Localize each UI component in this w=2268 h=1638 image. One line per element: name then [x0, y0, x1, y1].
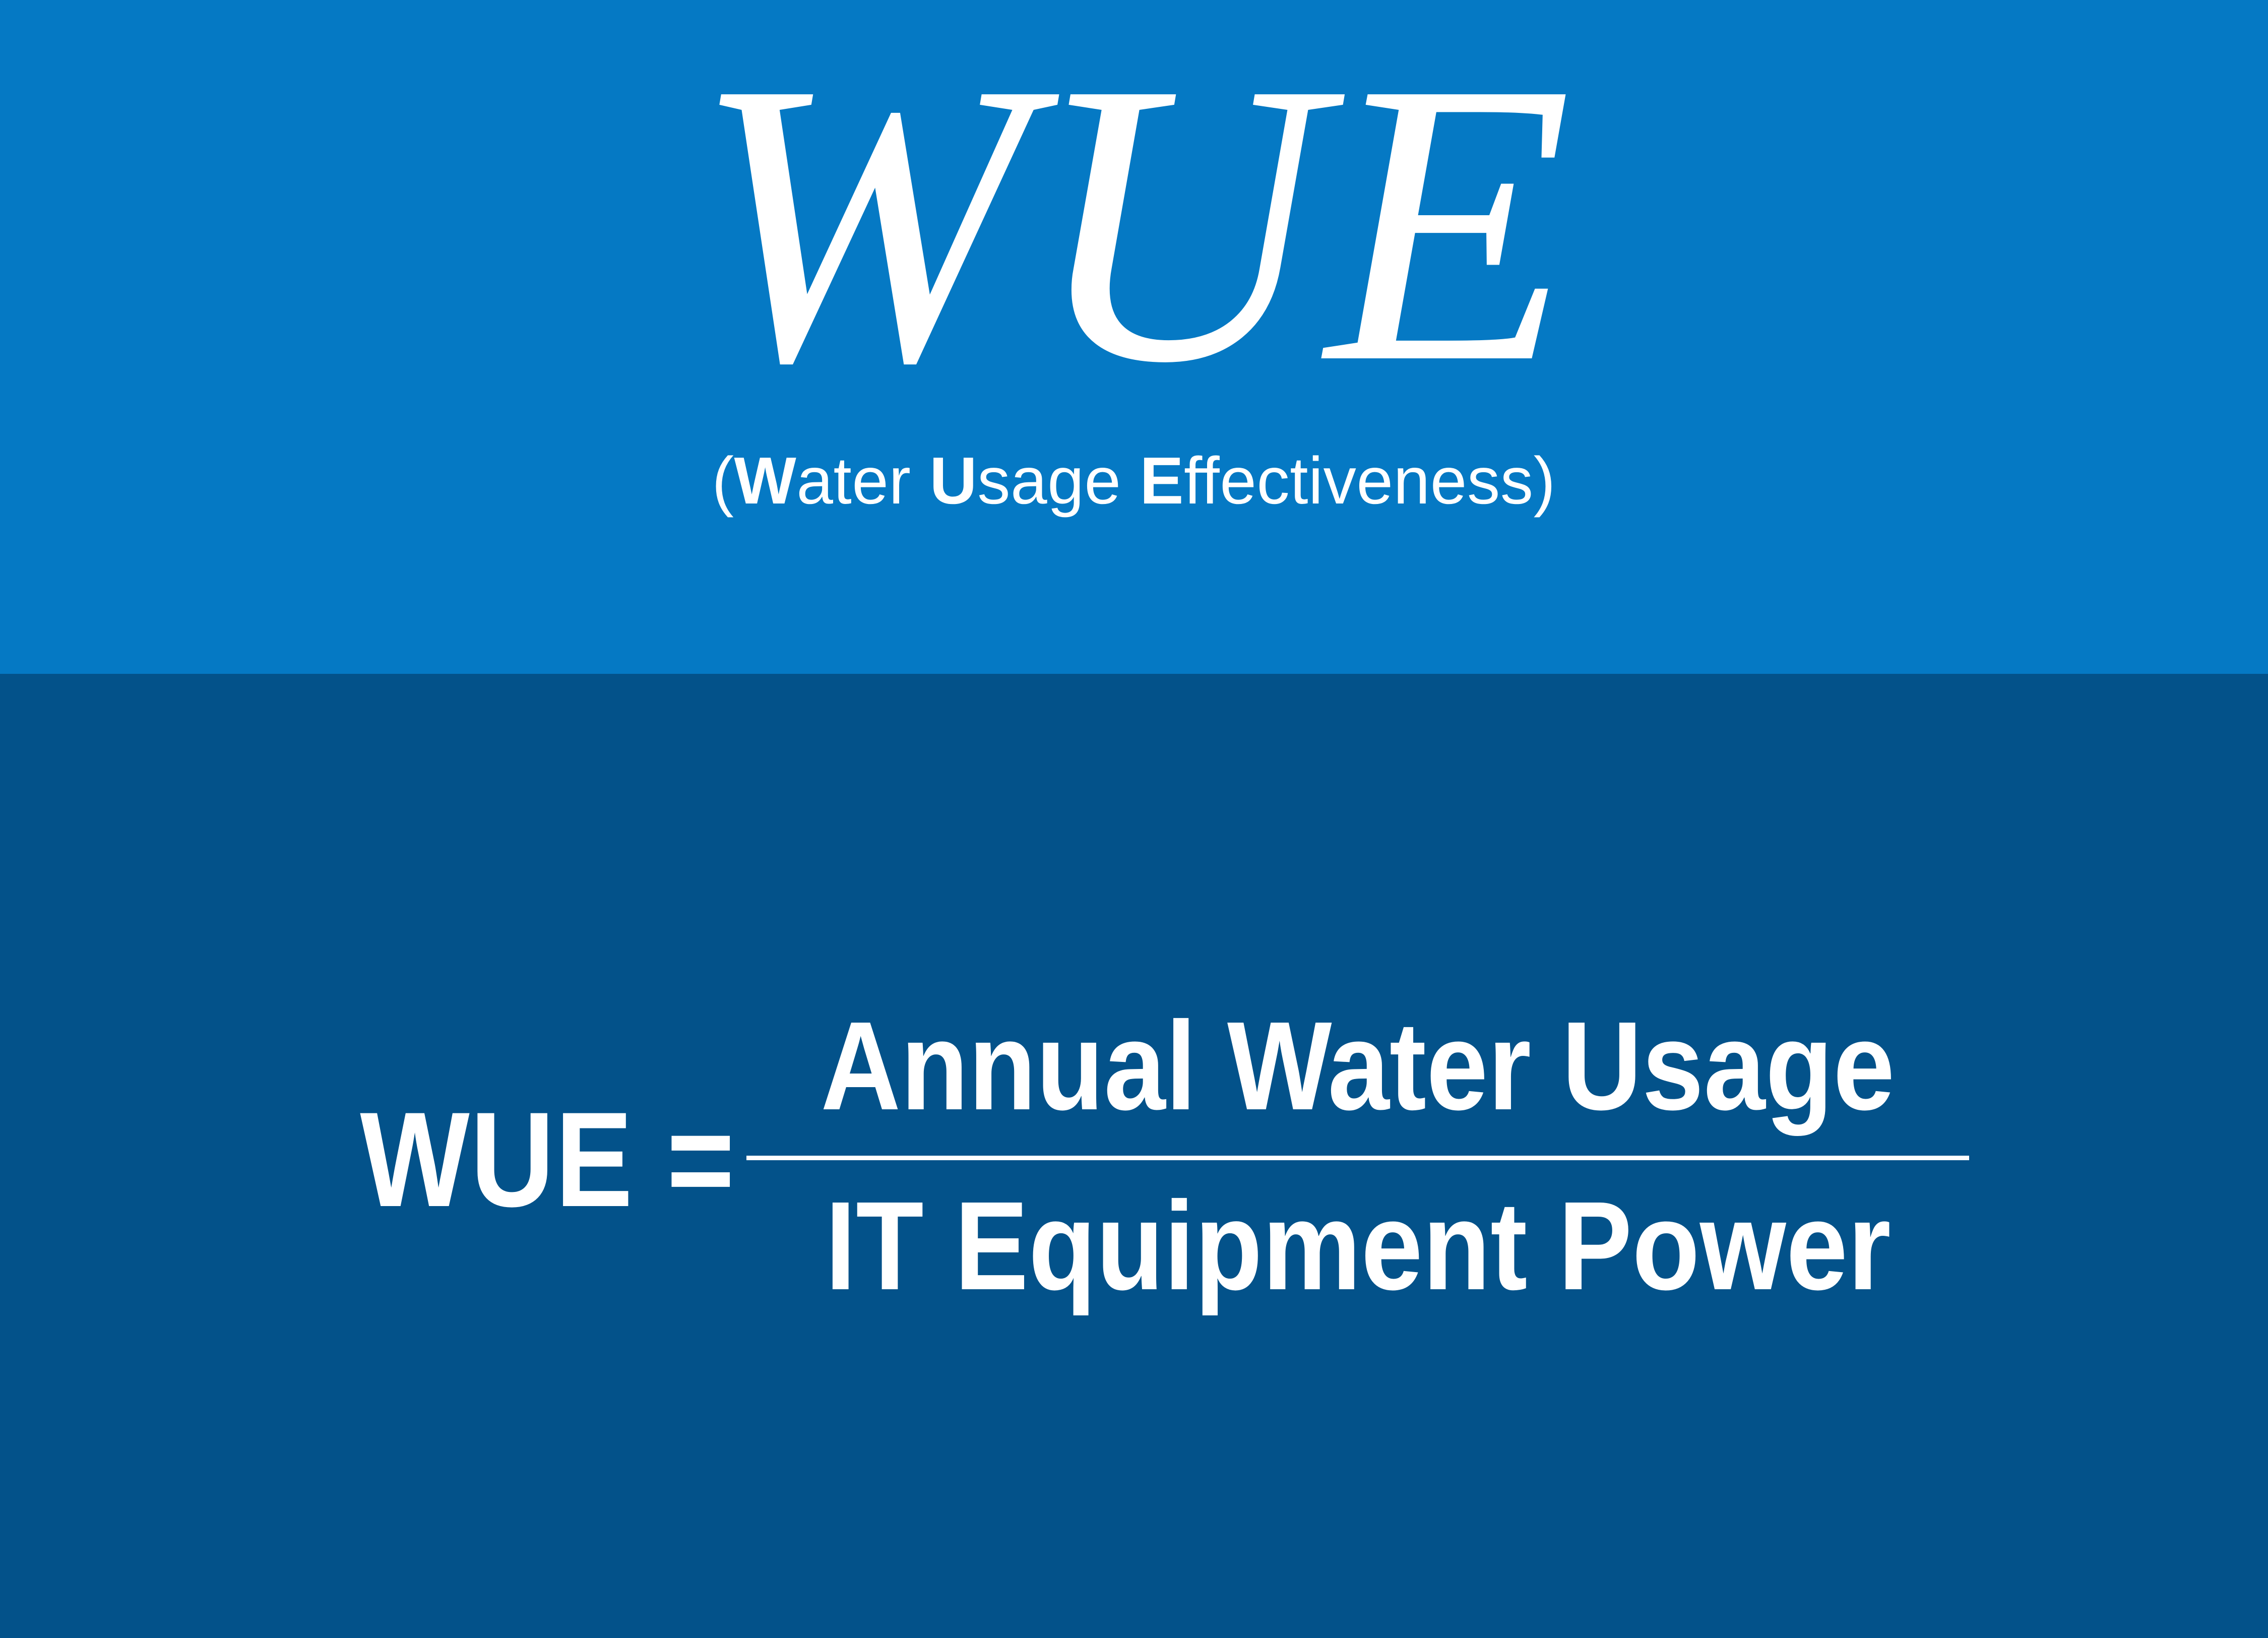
formula-fraction: Annual Water Usage IT Equipment Power [746, 995, 1969, 1316]
acronym-expansion: (Water Usage Effectiveness) [712, 448, 1556, 514]
expansion-word-effectiveness: ffectiveness [1184, 444, 1534, 518]
header-block: WUE (Water Usage Effectiveness) [0, 0, 2268, 674]
open-paren: ( [712, 444, 734, 518]
wue-infographic: WUE (Water Usage Effectiveness) WUE = An… [0, 0, 2268, 1638]
page-title-acronym: WUE [693, 21, 1576, 424]
formula-left-hand-side: WUE = [360, 1092, 735, 1227]
expansion-word-usage: sage [978, 444, 1140, 518]
close-paren: ) [1534, 444, 1556, 518]
expansion-initial-e: E [1140, 444, 1184, 518]
formula-numerator: Annual Water Usage [821, 995, 1895, 1137]
formula-equation: WUE = Annual Water Usage IT Equipment Po… [0, 674, 2268, 1638]
formula-block: WUE = Annual Water Usage IT Equipment Po… [0, 674, 2268, 1638]
expansion-word-water: ater [797, 444, 930, 518]
expansion-initial-w: W [734, 444, 797, 518]
expansion-initial-u: U [930, 444, 978, 518]
fraction-divider-line [746, 1156, 1969, 1160]
formula-denominator: IT Equipment Power [825, 1175, 1891, 1316]
